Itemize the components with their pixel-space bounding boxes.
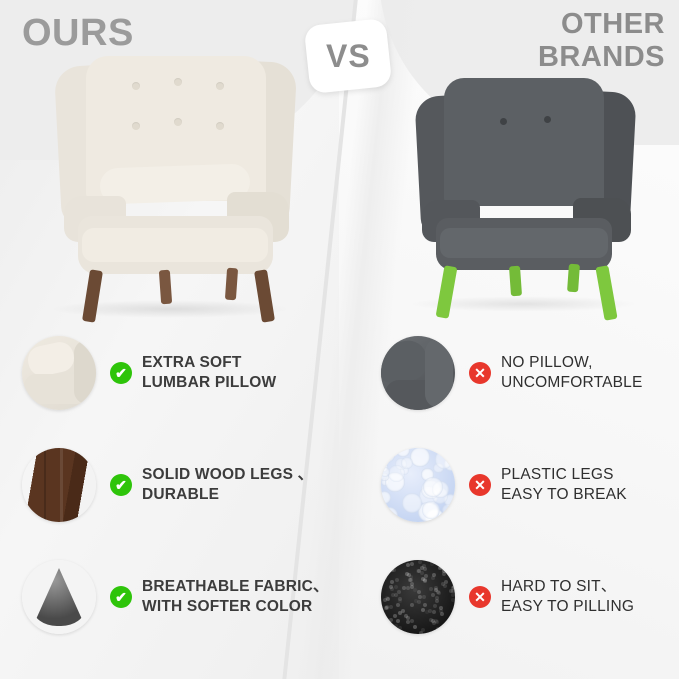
other-chair-leg	[509, 266, 522, 297]
cross-icon: ✕	[469, 362, 491, 384]
check-icon: ✔	[110, 362, 132, 384]
cross-icon: ✕	[469, 474, 491, 496]
other-feature-3: ✕ HARD TO SIT、 EASY TO PILLING	[381, 560, 634, 634]
other-feature-1-label: NO PILLOW, UNCOMFORTABLE	[501, 353, 643, 393]
other-chair-image	[418, 78, 633, 308]
ours-chair-image	[58, 56, 293, 316]
tuft-button	[132, 82, 140, 90]
ours-heading: OURS	[22, 12, 134, 54]
tuft-button	[132, 122, 140, 130]
other-feature-2: ✕ PLASTIC LEGS EASY TO BREAK	[381, 448, 627, 522]
other-chair-cushion	[440, 228, 608, 258]
tuft-button	[174, 118, 182, 126]
ours-chair-leg	[254, 269, 275, 322]
other-feature-1: ✕ NO PILLOW, UNCOMFORTABLE	[381, 336, 643, 410]
pilling-fabric-thumbnail	[381, 560, 455, 634]
other-chair-leg	[567, 264, 580, 293]
ours-chair-leg	[159, 270, 172, 305]
vs-label: VS	[326, 38, 371, 75]
lumbar-pillow-thumbnail	[22, 336, 96, 410]
tuft-button	[174, 78, 182, 86]
other-brands-line-1: OTHER	[538, 8, 665, 41]
other-feature-3-label: HARD TO SIT、 EASY TO PILLING	[501, 577, 634, 617]
other-brands-line-2: BRANDS	[538, 41, 665, 74]
wood-leg-thumbnail	[22, 448, 96, 522]
ours-chair-cushion	[82, 228, 268, 262]
ours-feature-2-label: SOLID WOOD LEGS 、 DURABLE	[142, 465, 313, 505]
ours-chair-leg	[82, 269, 103, 322]
other-brands-heading: OTHER BRANDS	[538, 8, 665, 74]
vs-badge: VS	[304, 18, 393, 94]
plastic-granules-thumbnail	[381, 448, 455, 522]
tuft-button	[216, 82, 224, 90]
comparison-infographic: OURS OTHER BRANDS VS	[0, 0, 679, 679]
cross-icon: ✕	[469, 586, 491, 608]
check-icon: ✔	[110, 474, 132, 496]
ours-feature-1: ✔ EXTRA SOFT LUMBAR PILLOW	[22, 336, 276, 410]
other-feature-2-label: PLASTIC LEGS EASY TO BREAK	[501, 465, 627, 505]
ours-feature-3: ✔ BREATHABLE FABRIC、 WITH SOFTER COLOR	[22, 560, 329, 634]
tuft-button	[544, 116, 551, 123]
tuft-button	[500, 118, 507, 125]
tuft-button	[216, 122, 224, 130]
fabric-texture-thumbnail	[22, 560, 96, 634]
other-chair-backrest	[444, 78, 604, 206]
ours-feature-1-label: EXTRA SOFT LUMBAR PILLOW	[142, 353, 276, 393]
check-icon: ✔	[110, 586, 132, 608]
ours-feature-2: ✔ SOLID WOOD LEGS 、 DURABLE	[22, 448, 313, 522]
ours-feature-3-label: BREATHABLE FABRIC、 WITH SOFTER COLOR	[142, 577, 329, 617]
no-pillow-thumbnail	[381, 336, 455, 410]
ours-chair-leg	[225, 268, 238, 301]
